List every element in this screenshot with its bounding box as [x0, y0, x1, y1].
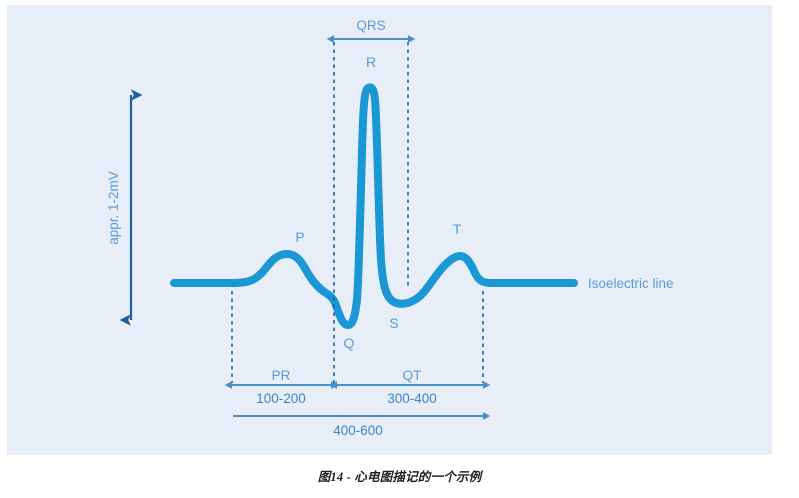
qrs-label: QRS — [356, 18, 385, 33]
qt-value: 300-400 — [387, 391, 437, 406]
qt-label: QT — [403, 368, 422, 383]
ecg-diagram-svg: appr. 1-2mV QRS PR 100-200 QT 300-400 — [0, 0, 799, 498]
isoelectric-line-label: Isoelectric line — [588, 276, 674, 291]
r-wave-label: R — [366, 54, 376, 70]
pr-label: PR — [272, 368, 291, 383]
pr-value: 100-200 — [256, 391, 306, 406]
s-wave-label: S — [389, 315, 398, 331]
p-wave-label: P — [295, 229, 304, 245]
ecg-waveform-trace — [174, 87, 574, 325]
qrs-dashed-lines — [334, 42, 408, 305]
amplitude-label: appr. 1-2mV — [106, 171, 121, 245]
t-wave-label: T — [453, 221, 462, 237]
total-value: 400-600 — [333, 423, 383, 438]
ecg-figure: appr. 1-2mV QRS PR 100-200 QT 300-400 — [0, 0, 799, 498]
figure-caption: 图14 - 心电图描记的一个示例 — [0, 466, 799, 485]
q-wave-label: Q — [344, 335, 355, 351]
